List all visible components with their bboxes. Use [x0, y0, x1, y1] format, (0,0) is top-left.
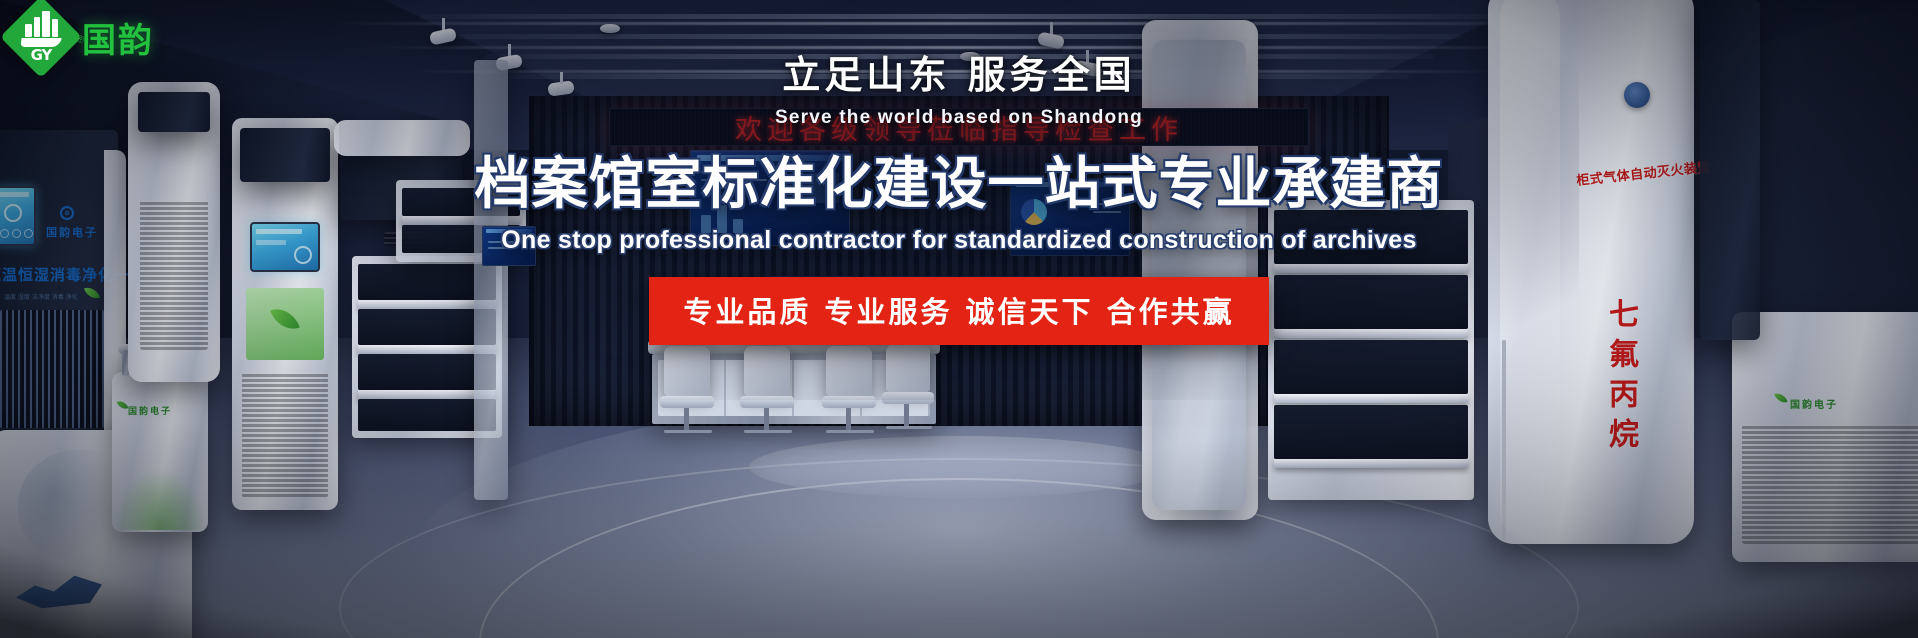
left-purifier-vent — [0, 310, 104, 428]
office-chair — [886, 344, 930, 392]
logo-gy-mark: GY — [31, 48, 52, 63]
ac-column-vent — [140, 200, 208, 350]
ceiling-light-strip — [330, 22, 1570, 25]
office-chair-seat — [882, 392, 934, 404]
center-podium — [749, 436, 1169, 498]
mobile-unit-grass-graphic — [114, 468, 206, 530]
office-chair — [826, 346, 872, 396]
logo-swoosh-icon — [20, 38, 61, 47]
fire-agent-vertical-label: 七氟丙烷 — [1598, 298, 1642, 458]
hero-slogan-en: Serve the world based on Shandong — [0, 107, 1918, 129]
fire-pillar-door-seam — [1502, 340, 1506, 540]
hero-banner: 国韵电子 恒温恒湿消毒净化一体机 温度 湿度 洁净度 消毒 净化 国韵电子 — [0, 0, 1918, 638]
ac-cabinet-vent — [242, 372, 328, 498]
hero-headline-cn: 档案馆室标准化建设一站式专业承建商 — [0, 139, 1918, 220]
office-chair-post — [904, 404, 909, 426]
ceiling-rib — [419, 14, 1499, 19]
hero-slogan-cn: 立足山东 服务全国 — [0, 44, 1918, 99]
office-chair-seat — [660, 396, 714, 408]
office-chair-base — [744, 430, 792, 433]
hero-cta-button[interactable]: 专业品质 专业服务 诚信天下 合作共赢 — [649, 277, 1268, 345]
ceiling-rib — [454, 34, 1464, 39]
office-chair-base — [826, 430, 874, 433]
mobile-unit-brand: 国韵电子 — [128, 404, 172, 417]
left-device-spec: 温度 湿度 洁净度 消毒 净化 — [4, 292, 78, 301]
logo-brand-name: 国韵 — [82, 13, 154, 62]
office-chair-post — [846, 408, 851, 432]
office-chair-base — [664, 430, 712, 433]
right-ac-vent — [1742, 424, 1918, 544]
spotlight-stem — [1050, 22, 1053, 34]
office-chair-post — [684, 408, 689, 432]
right-unit-brand: 国韵电子 — [1790, 396, 1838, 411]
office-chair-base — [886, 426, 932, 429]
office-chair — [664, 346, 710, 396]
spotlight-stem — [442, 18, 445, 30]
office-chair — [744, 346, 790, 396]
hero-headline-en: One stop professional contractor for sta… — [0, 226, 1918, 255]
office-chair-post — [764, 408, 769, 432]
site-logo[interactable]: ® GY 国韵 — [12, 8, 154, 66]
logo-buildings-icon — [25, 11, 58, 37]
office-chair-seat — [740, 396, 794, 408]
smoke-detector — [600, 24, 620, 33]
office-chair-seat — [822, 396, 876, 408]
